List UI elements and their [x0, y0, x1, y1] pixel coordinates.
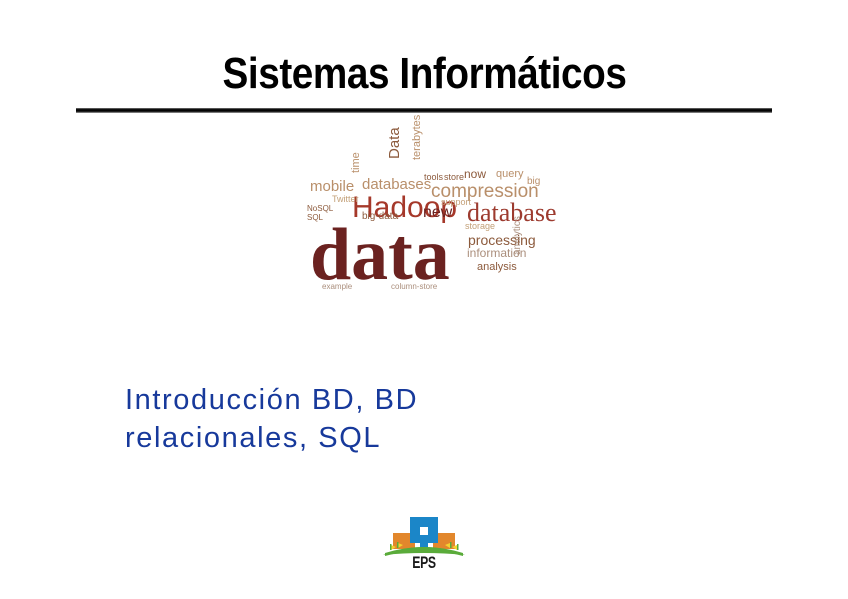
wordcloud-word: big-data — [362, 212, 398, 222]
subtitle-line-1: Introducción BD, BD — [125, 381, 595, 419]
page-title: Sistemas Informáticos — [0, 48, 848, 100]
wordcloud-word: new — [423, 205, 452, 221]
subtitle-line-2: relacionales, SQL — [125, 419, 595, 457]
eps-logo: EPS — [381, 511, 467, 577]
wordcloud-word: big — [527, 177, 540, 187]
wordcloud-word: analysis — [477, 262, 517, 273]
wordcloud-word: NoSQL — [307, 205, 333, 213]
eps-logo-icon — [381, 511, 467, 559]
wordcloud-word: data — [310, 218, 450, 292]
wordcloud-word: support — [441, 198, 471, 207]
wordcloud-word: SQL — [307, 214, 323, 222]
eps-logo-label: EPS — [393, 553, 455, 573]
wordcloud-word: processing — [468, 233, 536, 247]
wordcloud-word: mobile — [310, 179, 354, 194]
wordcloud-word: example — [322, 283, 352, 291]
subtitle: Introducción BD, BD relacionales, SQL — [125, 381, 595, 457]
slide-canvas: Sistemas Informáticos dataHadoopdatabase… — [0, 0, 848, 599]
wordcloud-word: store — [444, 173, 464, 182]
wordcloud-word: time — [351, 152, 362, 173]
wordcloud-word: query — [496, 169, 524, 180]
wordcloud-image: dataHadoopdatabasecompressiondatabasesmo… — [300, 155, 562, 305]
title-divider — [76, 108, 772, 113]
wordcloud-word: terabytes — [412, 115, 423, 160]
wordcloud-word: Data — [387, 127, 402, 159]
wordcloud-word: Twitter — [332, 195, 359, 204]
wordcloud-word: now — [464, 168, 486, 180]
wordcloud-word: databases — [362, 177, 431, 192]
wordcloud-word: analytics — [513, 216, 523, 255]
wordcloud-word: storage — [465, 222, 495, 231]
title-text: Sistemas Informáticos — [222, 48, 626, 100]
wordcloud-word: tools — [424, 173, 443, 182]
wordcloud-word: column-store — [391, 283, 437, 291]
